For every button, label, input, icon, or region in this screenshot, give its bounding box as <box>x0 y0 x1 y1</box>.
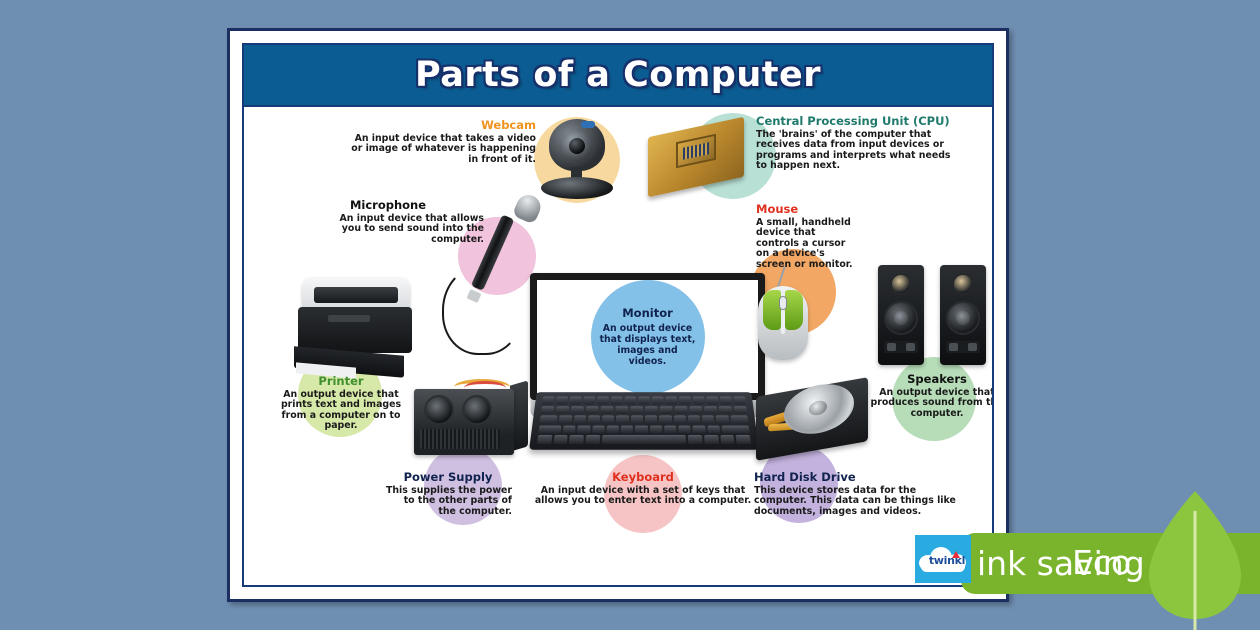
mouse-label: Mouse A small, handheld device that cont… <box>756 203 860 271</box>
monitor-body: An output device that displays text, ima… <box>600 323 696 368</box>
cpu-body: The 'brains' of the computer that receiv… <box>756 130 960 172</box>
printer-heading: Printer <box>274 375 408 388</box>
cpu-image <box>644 119 748 195</box>
speakers-body: An output device that produces sound fro… <box>866 388 992 420</box>
star-icon <box>952 551 960 558</box>
monitor-label: Monitor An output device that displays t… <box>591 280 705 393</box>
keyboard-heading: Keyboard <box>526 471 760 484</box>
speakers-heading: Speakers <box>866 373 992 386</box>
poster-header: Parts of a Computer <box>244 45 992 107</box>
printer-label: Printer An output device that prints tex… <box>274 375 408 432</box>
microphone-heading: Microphone <box>318 199 484 212</box>
mouse-body: A small, handheld device that controls a… <box>756 218 860 271</box>
hard-disk-drive-image <box>754 379 876 463</box>
speakers-label: Speakers An output device that produces … <box>866 373 992 419</box>
keyboard-label: Keyboard An input device with a set of k… <box>526 471 760 507</box>
microphone-label: Microphone An input device that allows y… <box>318 199 484 245</box>
twinkl-wordmark: twinkl <box>923 554 971 567</box>
eco-word-text: Eco <box>1072 543 1131 582</box>
poster-frame: Parts of a Computer Webcam <box>227 28 1009 602</box>
cloud-icon: twinkl <box>919 546 967 572</box>
hard-disk-drive-heading: Hard Disk Drive <box>754 471 962 484</box>
monitor-heading: Monitor <box>622 306 673 320</box>
cpu-heading: Central Processing Unit (CPU) <box>756 115 960 128</box>
microphone-body: An input device that allows you to send … <box>318 214 484 246</box>
speakers-image <box>878 265 988 371</box>
leaf-icon <box>1147 489 1243 630</box>
power-supply-body: This supplies the power to the other par… <box>384 486 512 518</box>
webcam-label: Webcam An input device that takes a vide… <box>346 119 536 165</box>
power-supply-label: Power Supply This supplies the power to … <box>384 471 512 517</box>
cpu-label: Central Processing Unit (CPU) The 'brain… <box>756 115 960 172</box>
page-title: Parts of a Computer <box>415 55 821 95</box>
printer-image <box>294 277 416 381</box>
power-supply-heading: Power Supply <box>384 471 512 484</box>
hard-disk-drive-body: This device stores data for the computer… <box>754 486 962 518</box>
keyboard-image <box>533 383 755 461</box>
mouse-image <box>752 266 814 362</box>
power-supply-image <box>410 379 532 465</box>
poster-inner-border: Parts of a Computer Webcam <box>242 43 994 587</box>
webcam-heading: Webcam <box>346 119 536 132</box>
printer-body: An output device that prints text and im… <box>274 390 408 432</box>
webcam-image <box>533 119 619 201</box>
twinkl-logo: twinkl <box>915 535 971 583</box>
hard-disk-drive-label: Hard Disk Drive This device stores data … <box>754 471 962 517</box>
mouse-heading: Mouse <box>756 203 860 216</box>
poster-body: Webcam An input device that takes a vide… <box>244 107 992 585</box>
webcam-body: An input device that takes a video or im… <box>346 134 536 166</box>
keyboard-body: An input device with a set of keys that … <box>526 486 760 507</box>
